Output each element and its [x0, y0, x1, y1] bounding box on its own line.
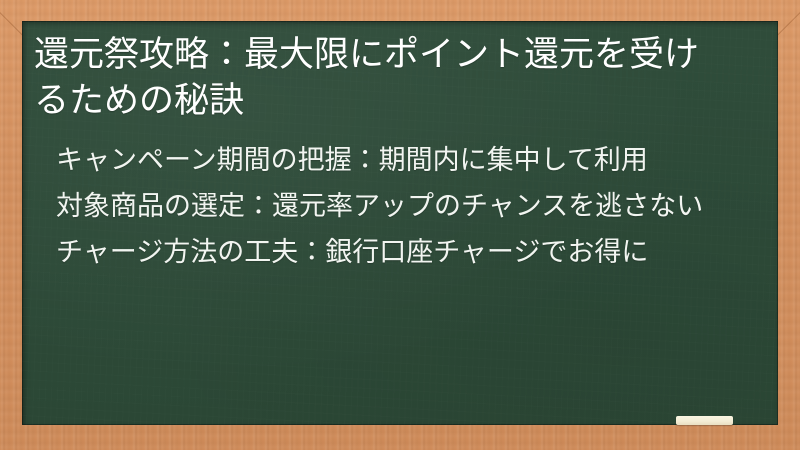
bullet-item-1: キャンペーン期間の把握：期間内に集中して利用: [56, 138, 768, 184]
bullet-item-3: チャージ方法の工夫：銀行口座チャージでお得に: [56, 230, 768, 276]
chalkboard-surface: 還元祭攻略：最大限にポイント還元を受けるための秘訣 キャンペーン期間の把握：期間…: [22, 21, 778, 425]
bullet-list: キャンペーン期間の把握：期間内に集中して利用 対象商品の選定：還元率アップのチャ…: [34, 138, 768, 276]
chalkboard-slide: 還元祭攻略：最大限にポイント還元を受けるための秘訣 キャンペーン期間の把握：期間…: [0, 0, 800, 450]
slide-content: 還元祭攻略：最大限にポイント還元を受けるための秘訣 キャンペーン期間の把握：期間…: [34, 32, 768, 415]
slide-title: 還元祭攻略：最大限にポイント還元を受けるための秘訣: [34, 32, 768, 124]
chalk-stick: [676, 416, 733, 425]
bullet-item-2: 対象商品の選定：還元率アップのチャンスを逃さない: [56, 184, 768, 230]
